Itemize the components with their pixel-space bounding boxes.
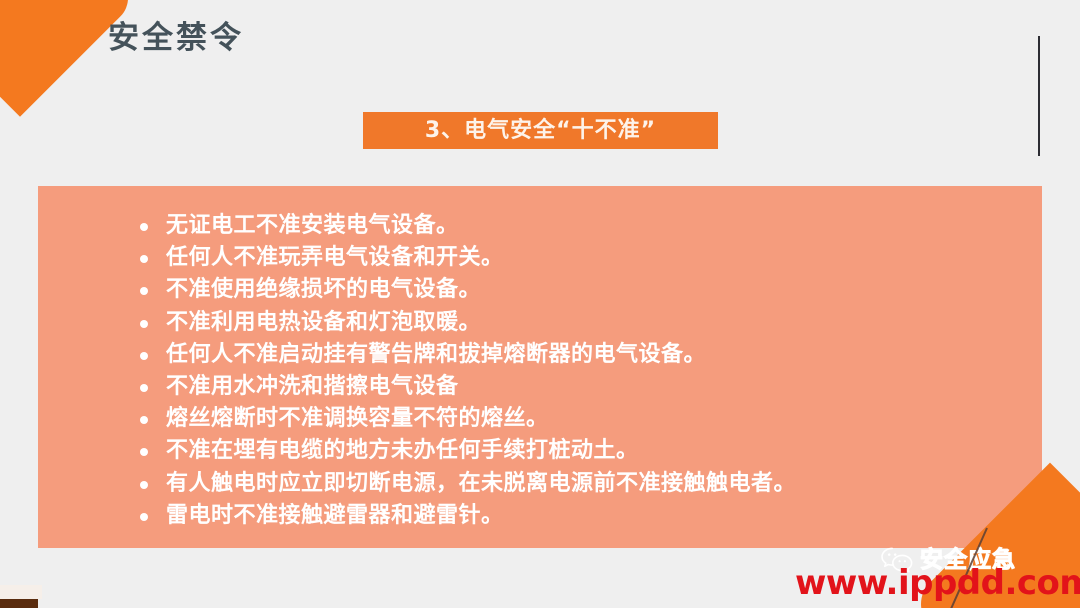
bottom-left-dark-bar: [0, 599, 38, 608]
bottom-left-cream-bar: [0, 585, 42, 599]
header-vertical-rule: [1038, 36, 1040, 156]
list-item: 不准利用电热设备和灯泡取暖。: [138, 307, 1042, 339]
slide-canvas: 安全禁令 3、电气安全“十不准” 无证电工不准安装电气设备。 任何人不准玩弄电气…: [0, 0, 1080, 608]
page-title: 安全禁令: [108, 19, 244, 58]
list-item: 不准用水冲洗和揩擦电气设备: [138, 371, 1042, 403]
list-item: 雷电时不准接触避雷器和避雷针。: [138, 500, 1042, 532]
rules-list: 无证电工不准安装电气设备。 任何人不准玩弄电气设备和开关。 不准使用绝缘损坏的电…: [138, 210, 1042, 532]
list-item: 无证电工不准安装电气设备。: [138, 210, 1042, 242]
corner-top-left-triangle: [0, 0, 139, 117]
list-item: 有人触电时应立即切断电源，在未脱离电源前不准接触触电者。: [138, 468, 1042, 500]
section-banner: 3、电气安全“十不准”: [363, 112, 718, 149]
list-item: 不准在埋有电缆的地方未办任何手续打桩动土。: [138, 435, 1042, 467]
list-item: 熔丝熔断时不准调换容量不符的熔丝。: [138, 403, 1042, 435]
list-item: 不准使用绝缘损坏的电气设备。: [138, 274, 1042, 306]
list-item: 任何人不准玩弄电气设备和开关。: [138, 242, 1042, 274]
content-panel: 无证电工不准安装电气设备。 任何人不准玩弄电气设备和开关。 不准使用绝缘损坏的电…: [38, 186, 1042, 548]
list-item: 任何人不准启动挂有警告牌和拔掉熔断器的电气设备。: [138, 339, 1042, 371]
url-watermark: www.ippdd.com: [795, 566, 1080, 600]
section-banner-label: 3、电气安全“十不准”: [425, 120, 656, 142]
